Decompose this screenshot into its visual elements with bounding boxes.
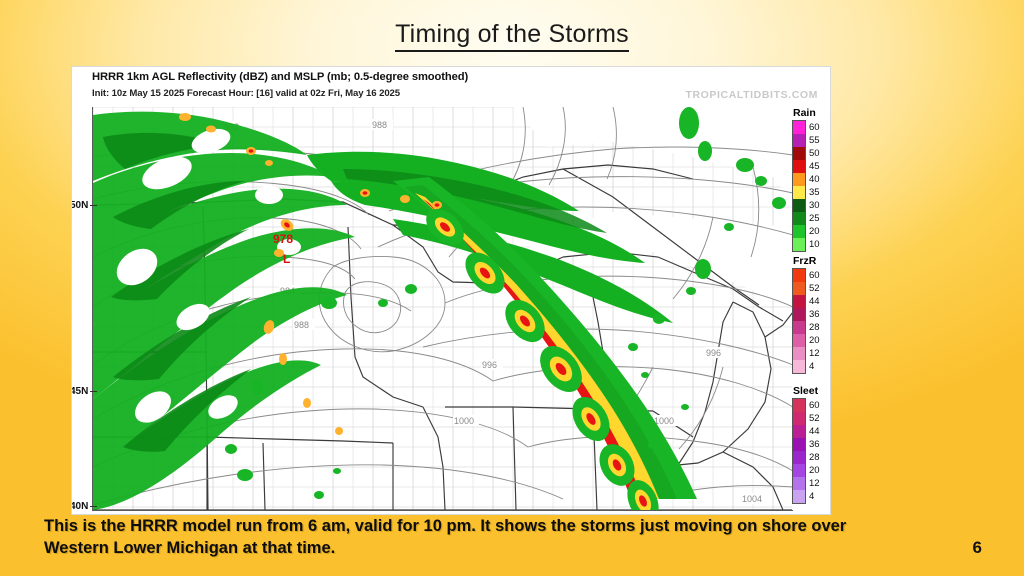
legend-swatch xyxy=(792,295,806,309)
slide-page-number: 6 xyxy=(973,538,982,558)
lat-label-45n-text: 45N xyxy=(72,386,88,397)
legend-row: 36 xyxy=(792,308,830,321)
legend-rows-frzr: 605244362820124 xyxy=(792,269,830,373)
legend-swatch xyxy=(792,199,806,213)
slide-caption: This is the HRRR model run from 6 am, va… xyxy=(44,516,874,560)
map-header-title: HRRR 1km AGL Reflectivity (dBZ) and MSLP… xyxy=(92,71,468,83)
legend-row: 35 xyxy=(792,186,830,199)
legend-value: 36 xyxy=(809,308,820,321)
legend-swatch xyxy=(792,186,806,200)
lat-tick-40n xyxy=(90,506,97,507)
legend-row: 28 xyxy=(792,451,830,464)
legend-swatch xyxy=(792,425,806,439)
legend-group-frzr: FrzR 605244362820124 xyxy=(792,255,830,373)
legend-value: 35 xyxy=(809,186,820,199)
legend-group-sleet: Sleet 605244362820124 xyxy=(792,385,830,503)
legend-group-rain: Rain 60555045403530252010 xyxy=(792,107,830,251)
legend-row: 4 xyxy=(792,360,830,373)
legend-row: 52 xyxy=(792,282,830,295)
isobar-label-996b: 996 xyxy=(706,348,721,358)
lat-label-40n: 40N xyxy=(72,501,97,512)
lat-label-45n: 45N xyxy=(72,386,97,397)
legend-swatch xyxy=(792,160,806,174)
legend-value: 44 xyxy=(809,425,820,438)
legend-row: 45 xyxy=(792,160,830,173)
legend-value: 44 xyxy=(809,295,820,308)
legend-value: 30 xyxy=(809,199,820,212)
reflectivity-legend: Rain 60555045403530252010 FrzR 605244362… xyxy=(792,107,830,510)
legend-value: 28 xyxy=(809,321,820,334)
legend-swatch xyxy=(792,334,806,348)
weather-map-panel: HRRR 1km AGL Reflectivity (dBZ) and MSLP… xyxy=(72,67,830,514)
legend-value: 12 xyxy=(809,347,820,360)
legend-value: 12 xyxy=(809,477,820,490)
legend-row: 36 xyxy=(792,438,830,451)
legend-value: 20 xyxy=(809,334,820,347)
legend-row: 60 xyxy=(792,269,830,282)
legend-row: 60 xyxy=(792,399,830,412)
legend-value: 28 xyxy=(809,451,820,464)
legend-value: 50 xyxy=(809,147,820,160)
lat-tick-50n xyxy=(90,205,97,206)
legend-value: 20 xyxy=(809,225,820,238)
legend-row: 30 xyxy=(792,199,830,212)
slide: Timing of the Storms HRRR 1km AGL Reflec… xyxy=(0,0,1024,576)
legend-row: 50 xyxy=(792,147,830,160)
isobar-label-988b: 988 xyxy=(294,320,309,330)
legend-swatch xyxy=(792,347,806,361)
legend-value: 20 xyxy=(809,464,820,477)
legend-value: 60 xyxy=(809,269,820,282)
isobar-label-1004: 1004 xyxy=(742,494,762,504)
low-pressure-value: 978 xyxy=(273,232,293,246)
legend-row: 20 xyxy=(792,225,830,238)
legend-row: 12 xyxy=(792,347,830,360)
legend-swatch xyxy=(792,464,806,478)
legend-row: 44 xyxy=(792,295,830,308)
legend-value: 10 xyxy=(809,238,820,251)
legend-swatch xyxy=(792,282,806,296)
legend-value: 36 xyxy=(809,438,820,451)
legend-row: 20 xyxy=(792,464,830,477)
legend-row: 52 xyxy=(792,412,830,425)
legend-row: 10 xyxy=(792,238,830,251)
legend-title-rain: Rain xyxy=(793,107,830,119)
legend-swatch xyxy=(792,438,806,452)
map-header: HRRR 1km AGL Reflectivity (dBZ) and MSLP… xyxy=(72,67,830,107)
legend-swatch xyxy=(792,225,806,239)
lat-tick-45n xyxy=(90,391,97,392)
legend-value: 4 xyxy=(809,490,814,503)
page-title-text: Timing of the Storms xyxy=(395,20,629,52)
legend-title-sleet: Sleet xyxy=(793,385,830,397)
legend-row: 55 xyxy=(792,134,830,147)
map-header-subtitle: Init: 10z May 15 2025 Forecast Hour: [16… xyxy=(92,88,400,99)
legend-title-frzr: FrzR xyxy=(793,255,830,267)
legend-swatch xyxy=(792,321,806,335)
legend-swatch xyxy=(792,308,806,322)
legend-value: 60 xyxy=(809,121,820,134)
legend-swatch xyxy=(792,212,806,226)
watermark-label: TROPICALTIDBITS.COM xyxy=(685,89,818,101)
legend-value: 52 xyxy=(809,282,820,295)
legend-swatch xyxy=(792,360,806,374)
page-title: Timing of the Storms xyxy=(0,20,1024,49)
radar-map[interactable]: 992 988 984 988 996 996 1000 xyxy=(92,107,793,511)
legend-value: 60 xyxy=(809,399,820,412)
isobar-label-988: 988 xyxy=(372,120,387,130)
isobar-label-1000: 1000 xyxy=(454,416,474,426)
legend-row: 28 xyxy=(792,321,830,334)
legend-swatch xyxy=(792,477,806,491)
legend-row: 25 xyxy=(792,212,830,225)
radar-map-svg: 992 988 984 988 996 996 1000 xyxy=(93,107,793,510)
low-pressure-symbol: L xyxy=(283,252,290,266)
legend-row: 20 xyxy=(792,334,830,347)
legend-swatch xyxy=(792,412,806,426)
lat-label-50n: 50N xyxy=(72,200,97,211)
legend-value: 40 xyxy=(809,173,820,186)
legend-swatch xyxy=(792,490,806,504)
legend-swatch xyxy=(792,147,806,161)
lat-label-50n-text: 50N xyxy=(72,200,88,211)
legend-row: 12 xyxy=(792,477,830,490)
legend-row: 4 xyxy=(792,490,830,503)
legend-value: 55 xyxy=(809,134,820,147)
legend-value: 4 xyxy=(809,360,814,373)
legend-row: 60 xyxy=(792,121,830,134)
legend-row: 44 xyxy=(792,425,830,438)
legend-swatch xyxy=(792,134,806,148)
legend-value: 52 xyxy=(809,412,820,425)
legend-row: 40 xyxy=(792,173,830,186)
legend-rows-sleet: 605244362820124 xyxy=(792,399,830,503)
legend-swatch xyxy=(792,238,806,252)
legend-value: 45 xyxy=(809,160,820,173)
legend-swatch xyxy=(792,173,806,187)
legend-value: 25 xyxy=(809,212,820,225)
legend-rows-rain: 60555045403530252010 xyxy=(792,121,830,251)
isobar-label-996: 996 xyxy=(482,360,497,370)
lat-label-40n-text: 40N xyxy=(72,501,88,512)
isobar-label-1000b: 1000 xyxy=(654,416,674,426)
legend-swatch xyxy=(792,451,806,465)
